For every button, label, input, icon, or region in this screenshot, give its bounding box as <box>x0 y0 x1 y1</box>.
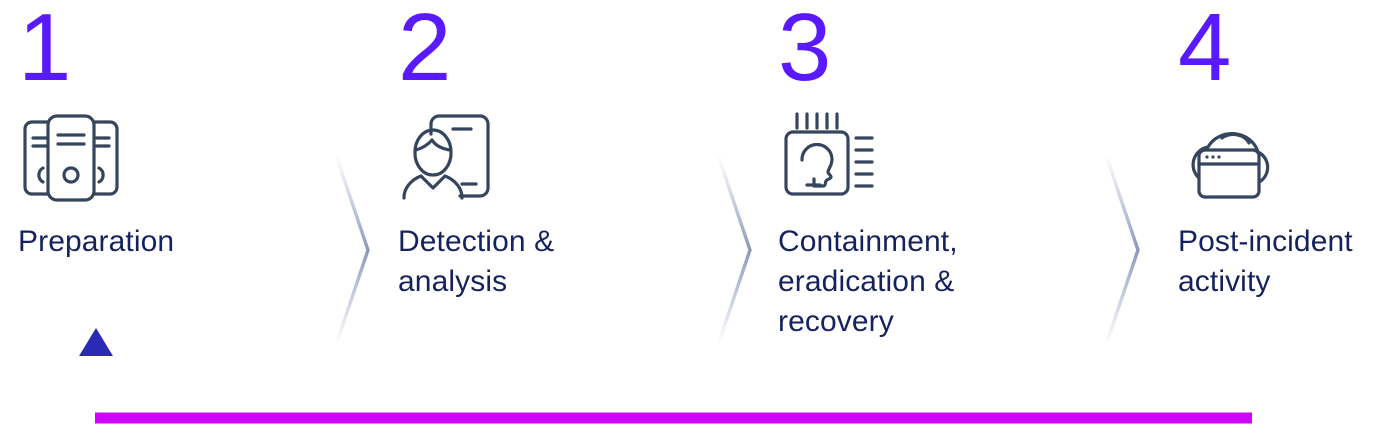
feedback-loop-arrow <box>0 0 1396 439</box>
process-flow-diagram: 1 Preparation 2 <box>0 0 1396 439</box>
